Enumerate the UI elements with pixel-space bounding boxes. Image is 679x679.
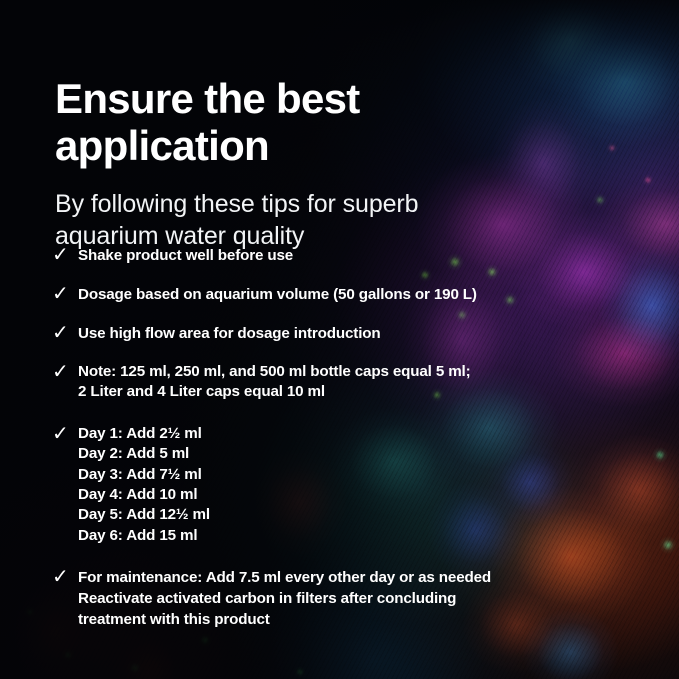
list-item: ✓ Use high flow area for dosage introduc… [52,323,669,344]
dosage-schedule-label: Day 1: Add 2½ ml Day 2: Add 5 ml Day 3: … [78,424,210,546]
list-item-label: Note: 125 ml, 250 ml, and 500 ml bottle … [78,362,471,403]
list-item-label: Shake product well before use [78,245,293,266]
check-icon: ✓ [52,284,78,305]
list-item: ✓ Shake product well before use [52,245,669,266]
list-item: ✓ Dosage based on aquarium volume (50 ga… [52,284,669,305]
check-icon: ✓ [52,323,78,344]
promo-card: Ensure the best application By following… [0,0,679,679]
tips-list: ✓ Shake product well before use ✓ Dosage… [52,245,669,630]
check-icon: ✓ [52,424,78,445]
list-item-dosage-schedule: ✓ Day 1: Add 2½ ml Day 2: Add 5 ml Day 3… [52,424,669,546]
list-item: ✓ For maintenance: Add 7.5 ml every othe… [52,567,669,630]
list-item-label: Use high flow area for dosage introducti… [78,323,381,344]
list-item-label: For maintenance: Add 7.5 ml every other … [78,567,491,630]
page-subtitle: By following these tips for superb aquar… [55,188,515,252]
check-icon: ✓ [52,362,78,383]
check-icon: ✓ [52,245,78,266]
list-item-label: Dosage based on aquarium volume (50 gall… [78,284,477,305]
check-icon: ✓ [52,567,78,588]
list-item: ✓ Note: 125 ml, 250 ml, and 500 ml bottl… [52,362,669,403]
content-overlay: Ensure the best application By following… [0,0,679,679]
page-title: Ensure the best application [55,75,485,169]
